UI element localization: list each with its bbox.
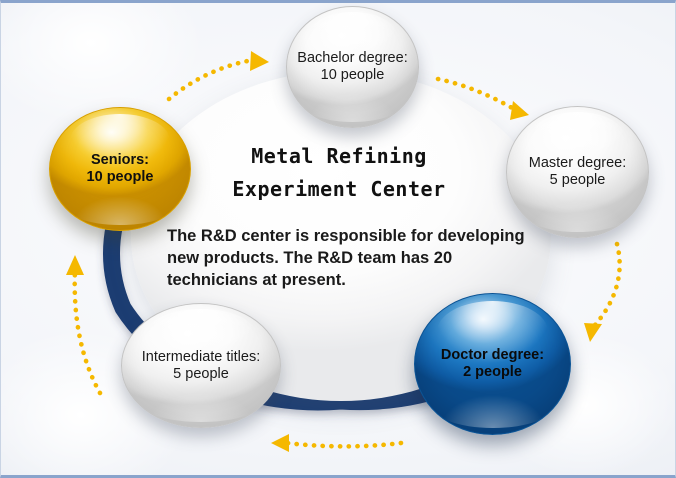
center-title-line1: Metal Refining — [169, 140, 509, 173]
node-master-label: Master degree: 5 people — [523, 155, 633, 189]
sphere-underlight-icon — [300, 81, 405, 122]
node-master-line1: Master degree: — [529, 155, 627, 171]
center-description: The R&D center is responsible for develo… — [167, 225, 547, 291]
node-master-degree[interactable]: Master degree: 5 people — [506, 106, 649, 238]
node-seniors[interactable]: Seniors: 10 people — [49, 107, 191, 231]
node-master-line2: 5 people — [550, 172, 606, 188]
node-doctor-line1: Doctor degree: — [441, 347, 544, 363]
node-intermediate-line2: 5 people — [173, 366, 229, 382]
node-bachelor-degree[interactable]: Bachelor degree: 10 people — [286, 6, 419, 128]
sphere-underlight-icon — [431, 381, 555, 429]
slide-canvas: Metal Refining Experiment Center The R&D… — [0, 0, 676, 478]
node-bachelor-label: Bachelor degree: 10 people — [291, 50, 413, 84]
node-seniors-line1: Seniors: — [91, 152, 149, 168]
node-bachelor-line1: Bachelor degree: — [297, 50, 407, 66]
node-seniors-label: Seniors: 10 people — [81, 152, 160, 186]
node-doctor-label: Doctor degree: 2 people — [435, 347, 550, 381]
center-title-line2: Experiment Center — [169, 173, 509, 206]
node-intermediate-titles[interactable]: Intermediate titles: 5 people — [121, 303, 281, 428]
arrow-intermediate-to-seniors — [66, 255, 100, 393]
node-doctor-degree[interactable]: Doctor degree: 2 people — [414, 293, 571, 435]
center-title: Metal Refining Experiment Center — [169, 140, 509, 206]
arrow-master-to-doctor — [584, 244, 620, 342]
sphere-underlight-icon — [64, 184, 176, 225]
node-intermediate-label: Intermediate titles: 5 people — [136, 349, 266, 383]
node-bachelor-line2: 10 people — [321, 67, 385, 83]
sphere-underlight-icon — [521, 188, 634, 232]
arrow-doctor-to-intermediate — [271, 434, 401, 452]
sphere-underlight-icon — [138, 380, 264, 422]
node-intermediate-line1: Intermediate titles: — [142, 349, 260, 365]
node-doctor-line2: 2 people — [463, 364, 522, 380]
node-seniors-line2: 10 people — [87, 169, 154, 185]
